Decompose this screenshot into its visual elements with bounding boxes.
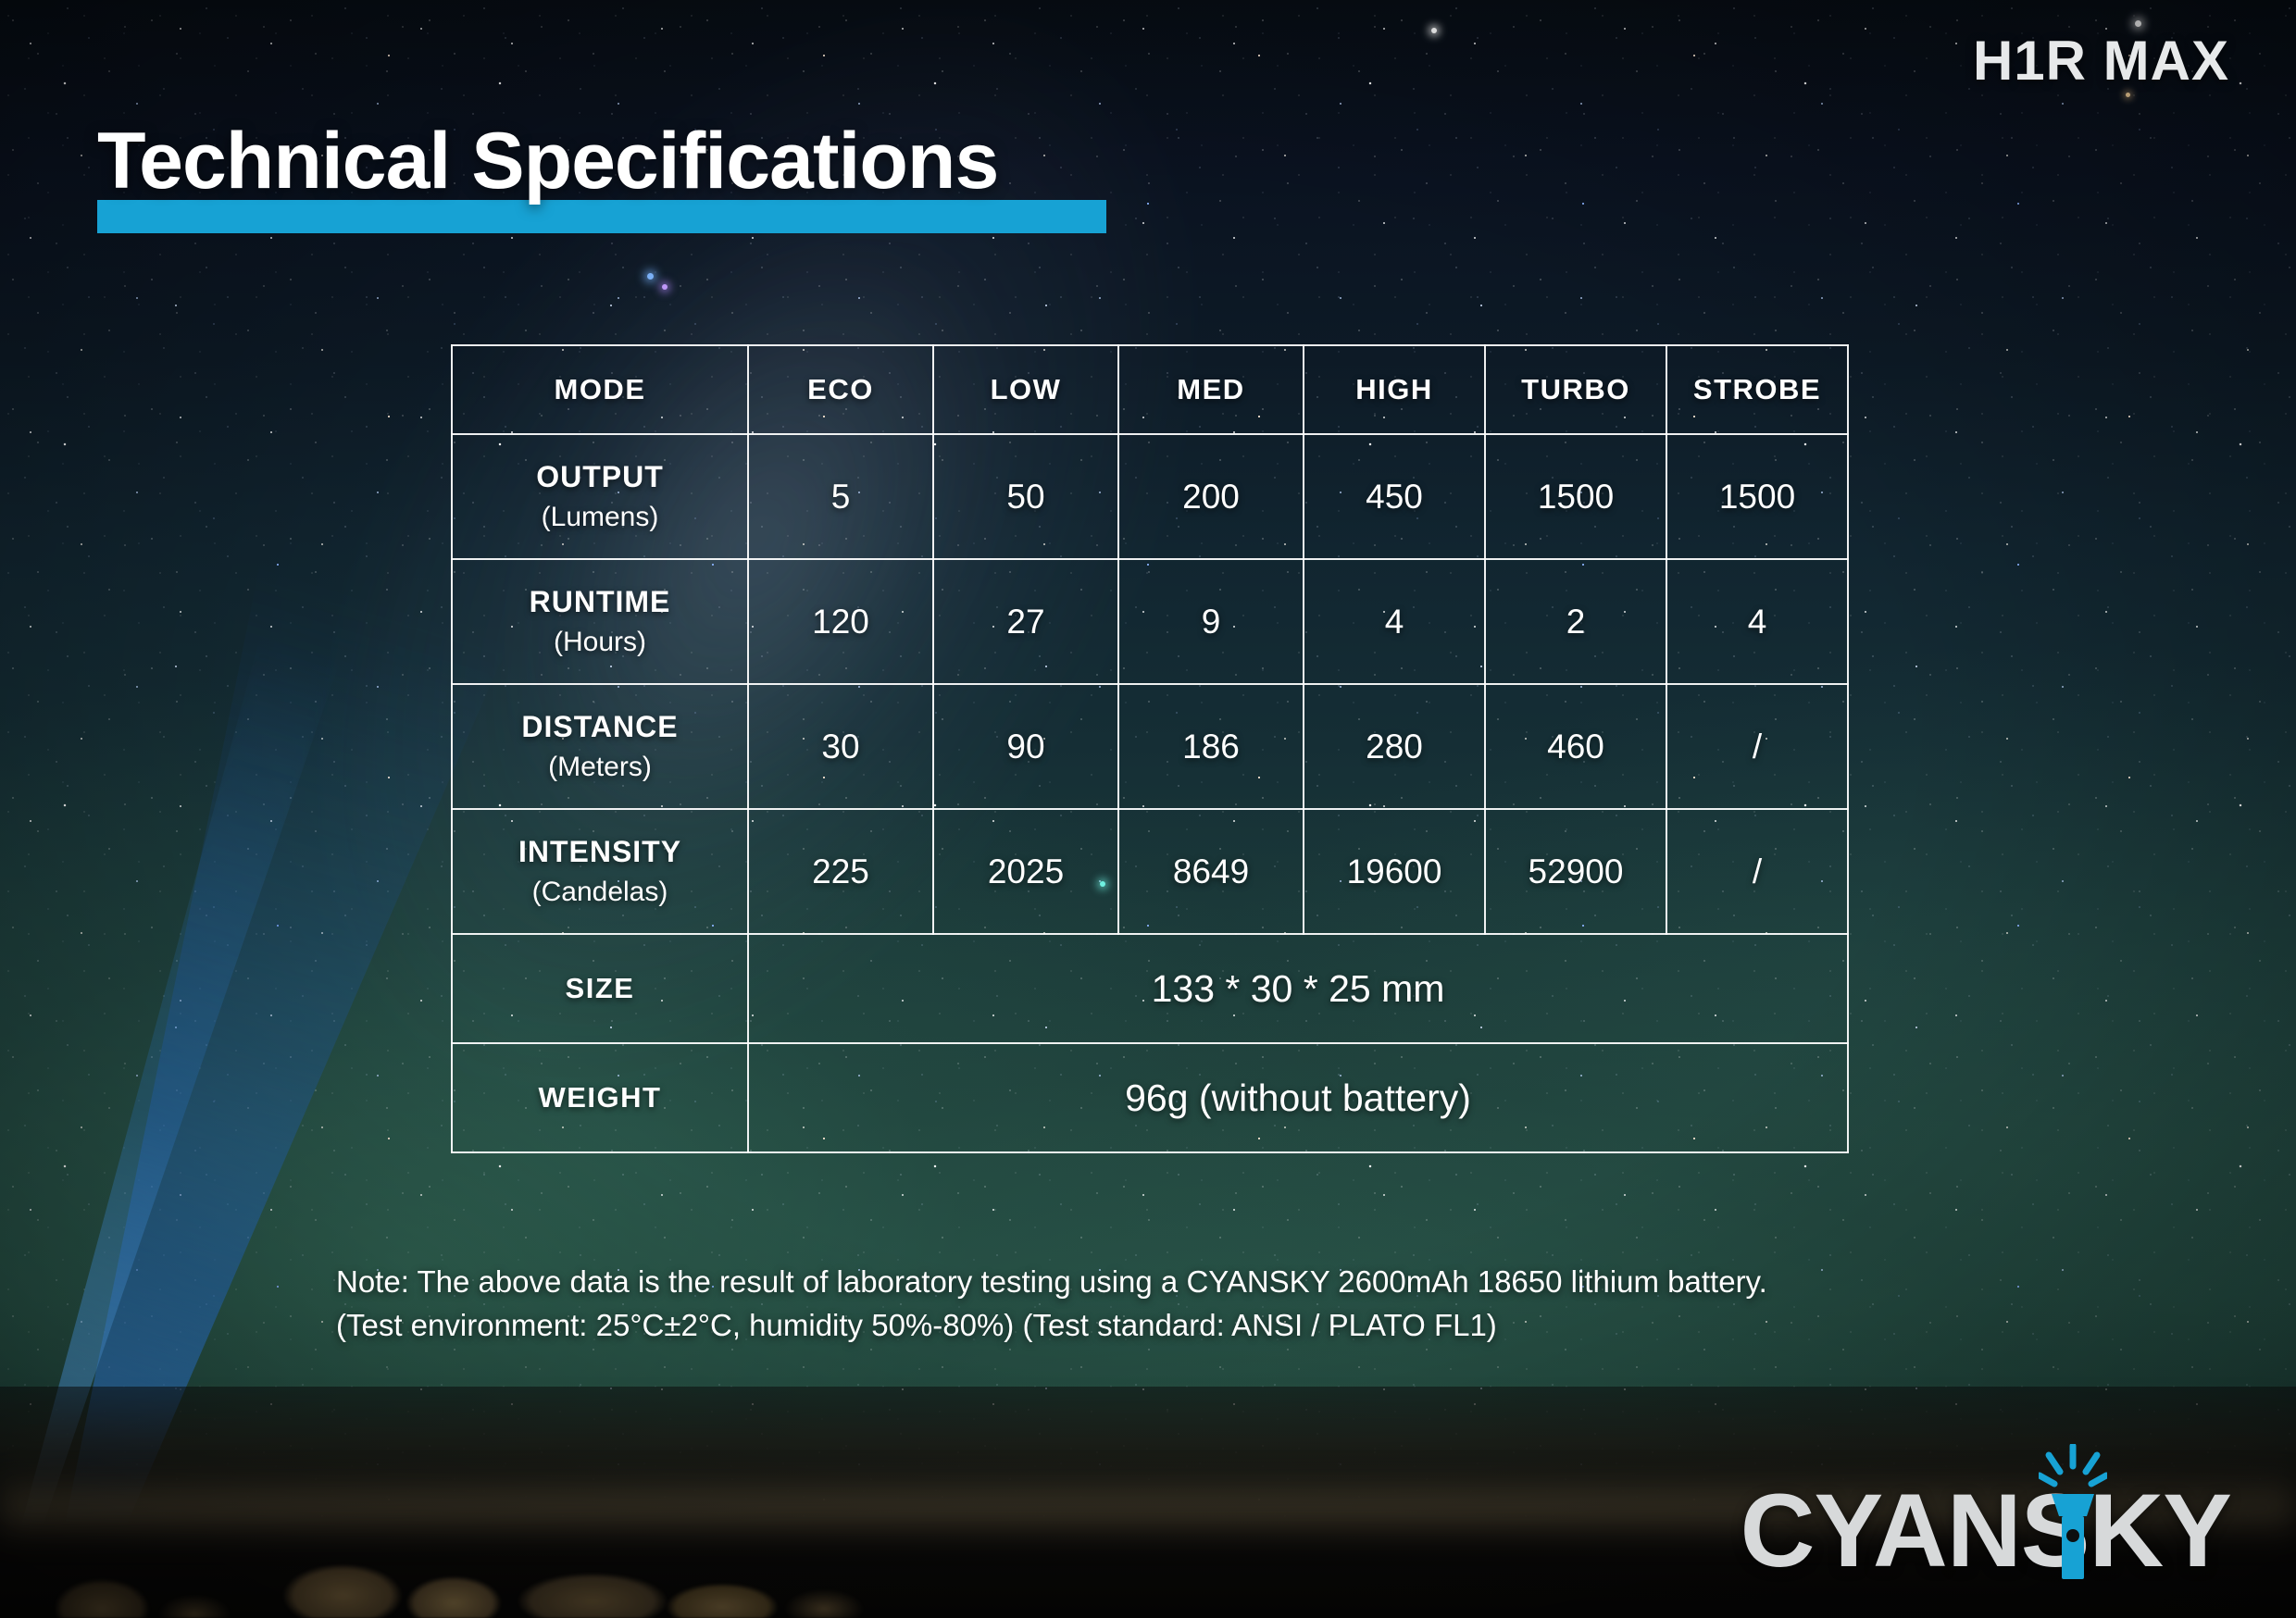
row-label-distance-unit: (Meters) (453, 751, 747, 783)
cell-distance-eco: 30 (748, 684, 933, 809)
footnote-line-2: (Test environment: 25°C±2°C, humidity 50… (336, 1304, 2188, 1348)
row-label-distance-name: DISTANCE (453, 710, 747, 745)
table-row-output: OUTPUT (Lumens) 5 50 200 450 1500 1500 (452, 434, 1848, 559)
column-header-mode: MODE (452, 345, 748, 434)
row-label-output-name: OUTPUT (453, 460, 747, 495)
row-label-runtime: RUNTIME (Hours) (452, 559, 748, 684)
table-row-runtime: RUNTIME (Hours) 120 27 9 4 2 4 (452, 559, 1848, 684)
row-label-size: SIZE (452, 934, 748, 1043)
footnote-block: Note: The above data is the result of la… (336, 1261, 2188, 1348)
cell-output-strobe: 1500 (1666, 434, 1848, 559)
cell-runtime-med: 9 (1118, 559, 1304, 684)
cell-output-high: 450 (1304, 434, 1485, 559)
footnote-line-1: Note: The above data is the result of la… (336, 1261, 2188, 1304)
table-row-weight: WEIGHT 96g (without battery) (452, 1043, 1848, 1152)
brand-wordmark-k: K (2089, 1473, 2163, 1588)
column-header-eco: ECO (748, 345, 933, 434)
cell-runtime-low: 27 (933, 559, 1118, 684)
cell-size-value: 133 * 30 * 25 mm (748, 934, 1848, 1043)
cell-distance-low: 90 (933, 684, 1118, 809)
cell-intensity-low: 2025 (933, 809, 1118, 934)
row-label-intensity-name: INTENSITY (453, 835, 747, 870)
row-label-output-unit: (Lumens) (453, 501, 747, 533)
table-row-distance: DISTANCE (Meters) 30 90 186 280 460 / (452, 684, 1848, 809)
table-header-row: MODE ECO LOW MED HIGH TURBO STROBE (452, 345, 1848, 434)
column-header-strobe: STROBE (1666, 345, 1848, 434)
cell-distance-med: 186 (1118, 684, 1304, 809)
cell-intensity-med: 8649 (1118, 809, 1304, 934)
brand-wordmark-part1: CYANS (1741, 1486, 2090, 1577)
cell-distance-high: 280 (1304, 684, 1485, 809)
row-label-runtime-name: RUNTIME (453, 585, 747, 620)
row-label-intensity-unit: (Candelas) (453, 876, 747, 908)
cell-distance-turbo: 460 (1485, 684, 1666, 809)
row-label-intensity: INTENSITY (Candelas) (452, 809, 748, 934)
cell-runtime-high: 4 (1304, 559, 1485, 684)
cell-runtime-turbo: 2 (1485, 559, 1666, 684)
page-title-block: Technical Specifications (97, 118, 998, 205)
cyansky-logo: CYANS K (1741, 1457, 2231, 1577)
column-header-low: LOW (933, 345, 1118, 434)
cell-output-low: 50 (933, 434, 1118, 559)
column-header-high: HIGH (1304, 345, 1485, 434)
cell-output-med: 200 (1118, 434, 1304, 559)
row-label-output: OUTPUT (Lumens) (452, 434, 748, 559)
cell-output-turbo: 1500 (1485, 434, 1666, 559)
cell-intensity-strobe: / (1666, 809, 1848, 934)
technical-specifications-table: MODE ECO LOW MED HIGH TURBO STROBE OUTPU… (451, 344, 1849, 1153)
table-row-intensity: INTENSITY (Candelas) 225 2025 8649 19600… (452, 809, 1848, 934)
row-label-distance: DISTANCE (Meters) (452, 684, 748, 809)
cell-weight-value: 96g (without battery) (748, 1043, 1848, 1152)
product-model-name: H1R MAX (1973, 33, 2229, 89)
cell-intensity-turbo: 52900 (1485, 809, 1666, 934)
cell-runtime-strobe: 4 (1666, 559, 1848, 684)
column-header-med: MED (1118, 345, 1304, 434)
table-row-size: SIZE 133 * 30 * 25 mm (452, 934, 1848, 1043)
cell-distance-strobe: / (1666, 684, 1848, 809)
column-header-turbo: TURBO (1485, 345, 1666, 434)
page-title: Technical Specifications (97, 118, 998, 205)
row-label-weight: WEIGHT (452, 1043, 748, 1152)
cell-output-eco: 5 (748, 434, 933, 559)
brand-wordmark-part3: Y (2163, 1486, 2231, 1577)
brand-wordmark: CYANS K (1741, 1486, 2231, 1577)
cell-runtime-eco: 120 (748, 559, 933, 684)
cell-intensity-eco: 225 (748, 809, 933, 934)
brand-wordmark-k-group: K (2089, 1486, 2163, 1577)
cell-intensity-high: 19600 (1304, 809, 1485, 934)
row-label-runtime-unit: (Hours) (453, 626, 747, 658)
